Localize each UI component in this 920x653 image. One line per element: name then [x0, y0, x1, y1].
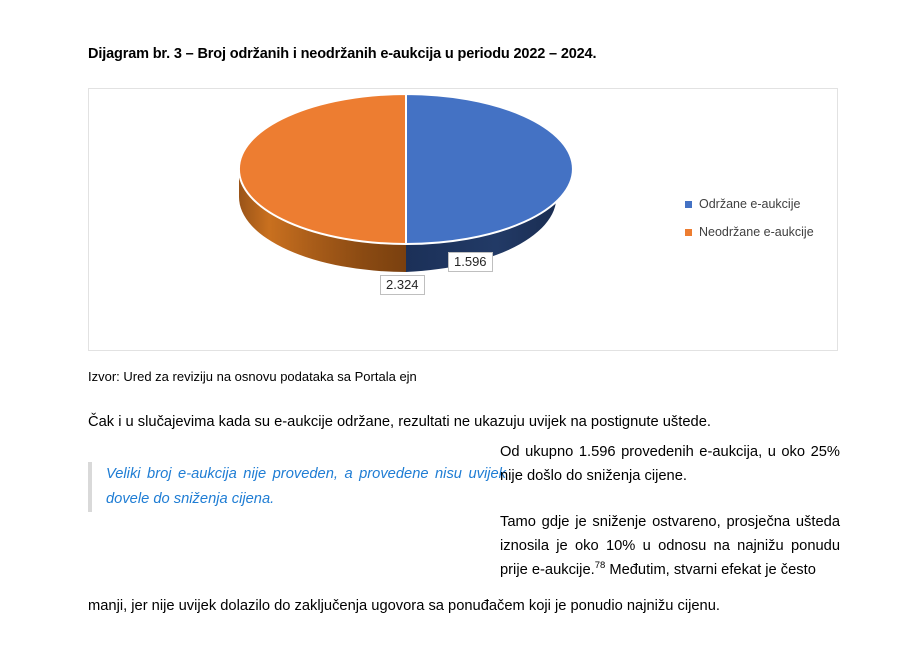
legend-label-odrzane: Održane e-aukcije	[699, 197, 800, 211]
closing-paragraph: manji, jer nije uvijek dolazilo do zaklj…	[88, 594, 840, 618]
pull-quote-block: Veliki broj e-aukcija nije proveden, a p…	[88, 462, 506, 512]
pie-slice-top-odrzane	[406, 94, 573, 244]
figure-source-line: Izvor: Ured za reviziju na osnovu podata…	[88, 369, 417, 384]
footnote-reference[interactable]: 78	[595, 560, 606, 571]
legend-swatch-icon-neodrzane	[685, 229, 692, 236]
pie-data-label-neodrzane: 2.324	[380, 275, 425, 295]
chart-legend: Održane e-aukcije Neodržane e-aukcije	[685, 197, 835, 253]
intro-paragraph: Čak i u slučajevima kada su e-aukcije od…	[88, 412, 840, 433]
legend-item-neodrzane[interactable]: Neodržane e-aukcije	[685, 225, 835, 239]
right-paragraph-2: Tamo gdje je sniženje ostvareno, prosječ…	[500, 510, 840, 582]
pie-chart-plot-area: 1.596 2.324	[89, 89, 689, 352]
chart-container: 1.596 2.324 Održane e-aukcije Neodržane …	[88, 88, 838, 351]
legend-swatch-icon-odrzane	[685, 201, 692, 208]
right-paragraph-2-text-b: Međutim, stvarni efekat je često	[605, 562, 816, 578]
right-text-column: Od ukupno 1.596 provedenih e-aukcija, u …	[500, 440, 840, 582]
right-paragraph-1: Od ukupno 1.596 provedenih e-aukcija, u …	[500, 440, 840, 488]
legend-item-odrzane[interactable]: Održane e-aukcije	[685, 197, 835, 211]
figure-caption: Dijagram br. 3 – Broj održanih i neodrža…	[88, 46, 848, 62]
legend-label-neodrzane: Neodržane e-aukcije	[699, 225, 814, 239]
pull-quote-text: Veliki broj e-aukcija nije proveden, a p…	[106, 462, 506, 512]
pie-chart-svg	[89, 89, 689, 352]
pie-data-label-odrzane: 1.596	[448, 252, 493, 272]
